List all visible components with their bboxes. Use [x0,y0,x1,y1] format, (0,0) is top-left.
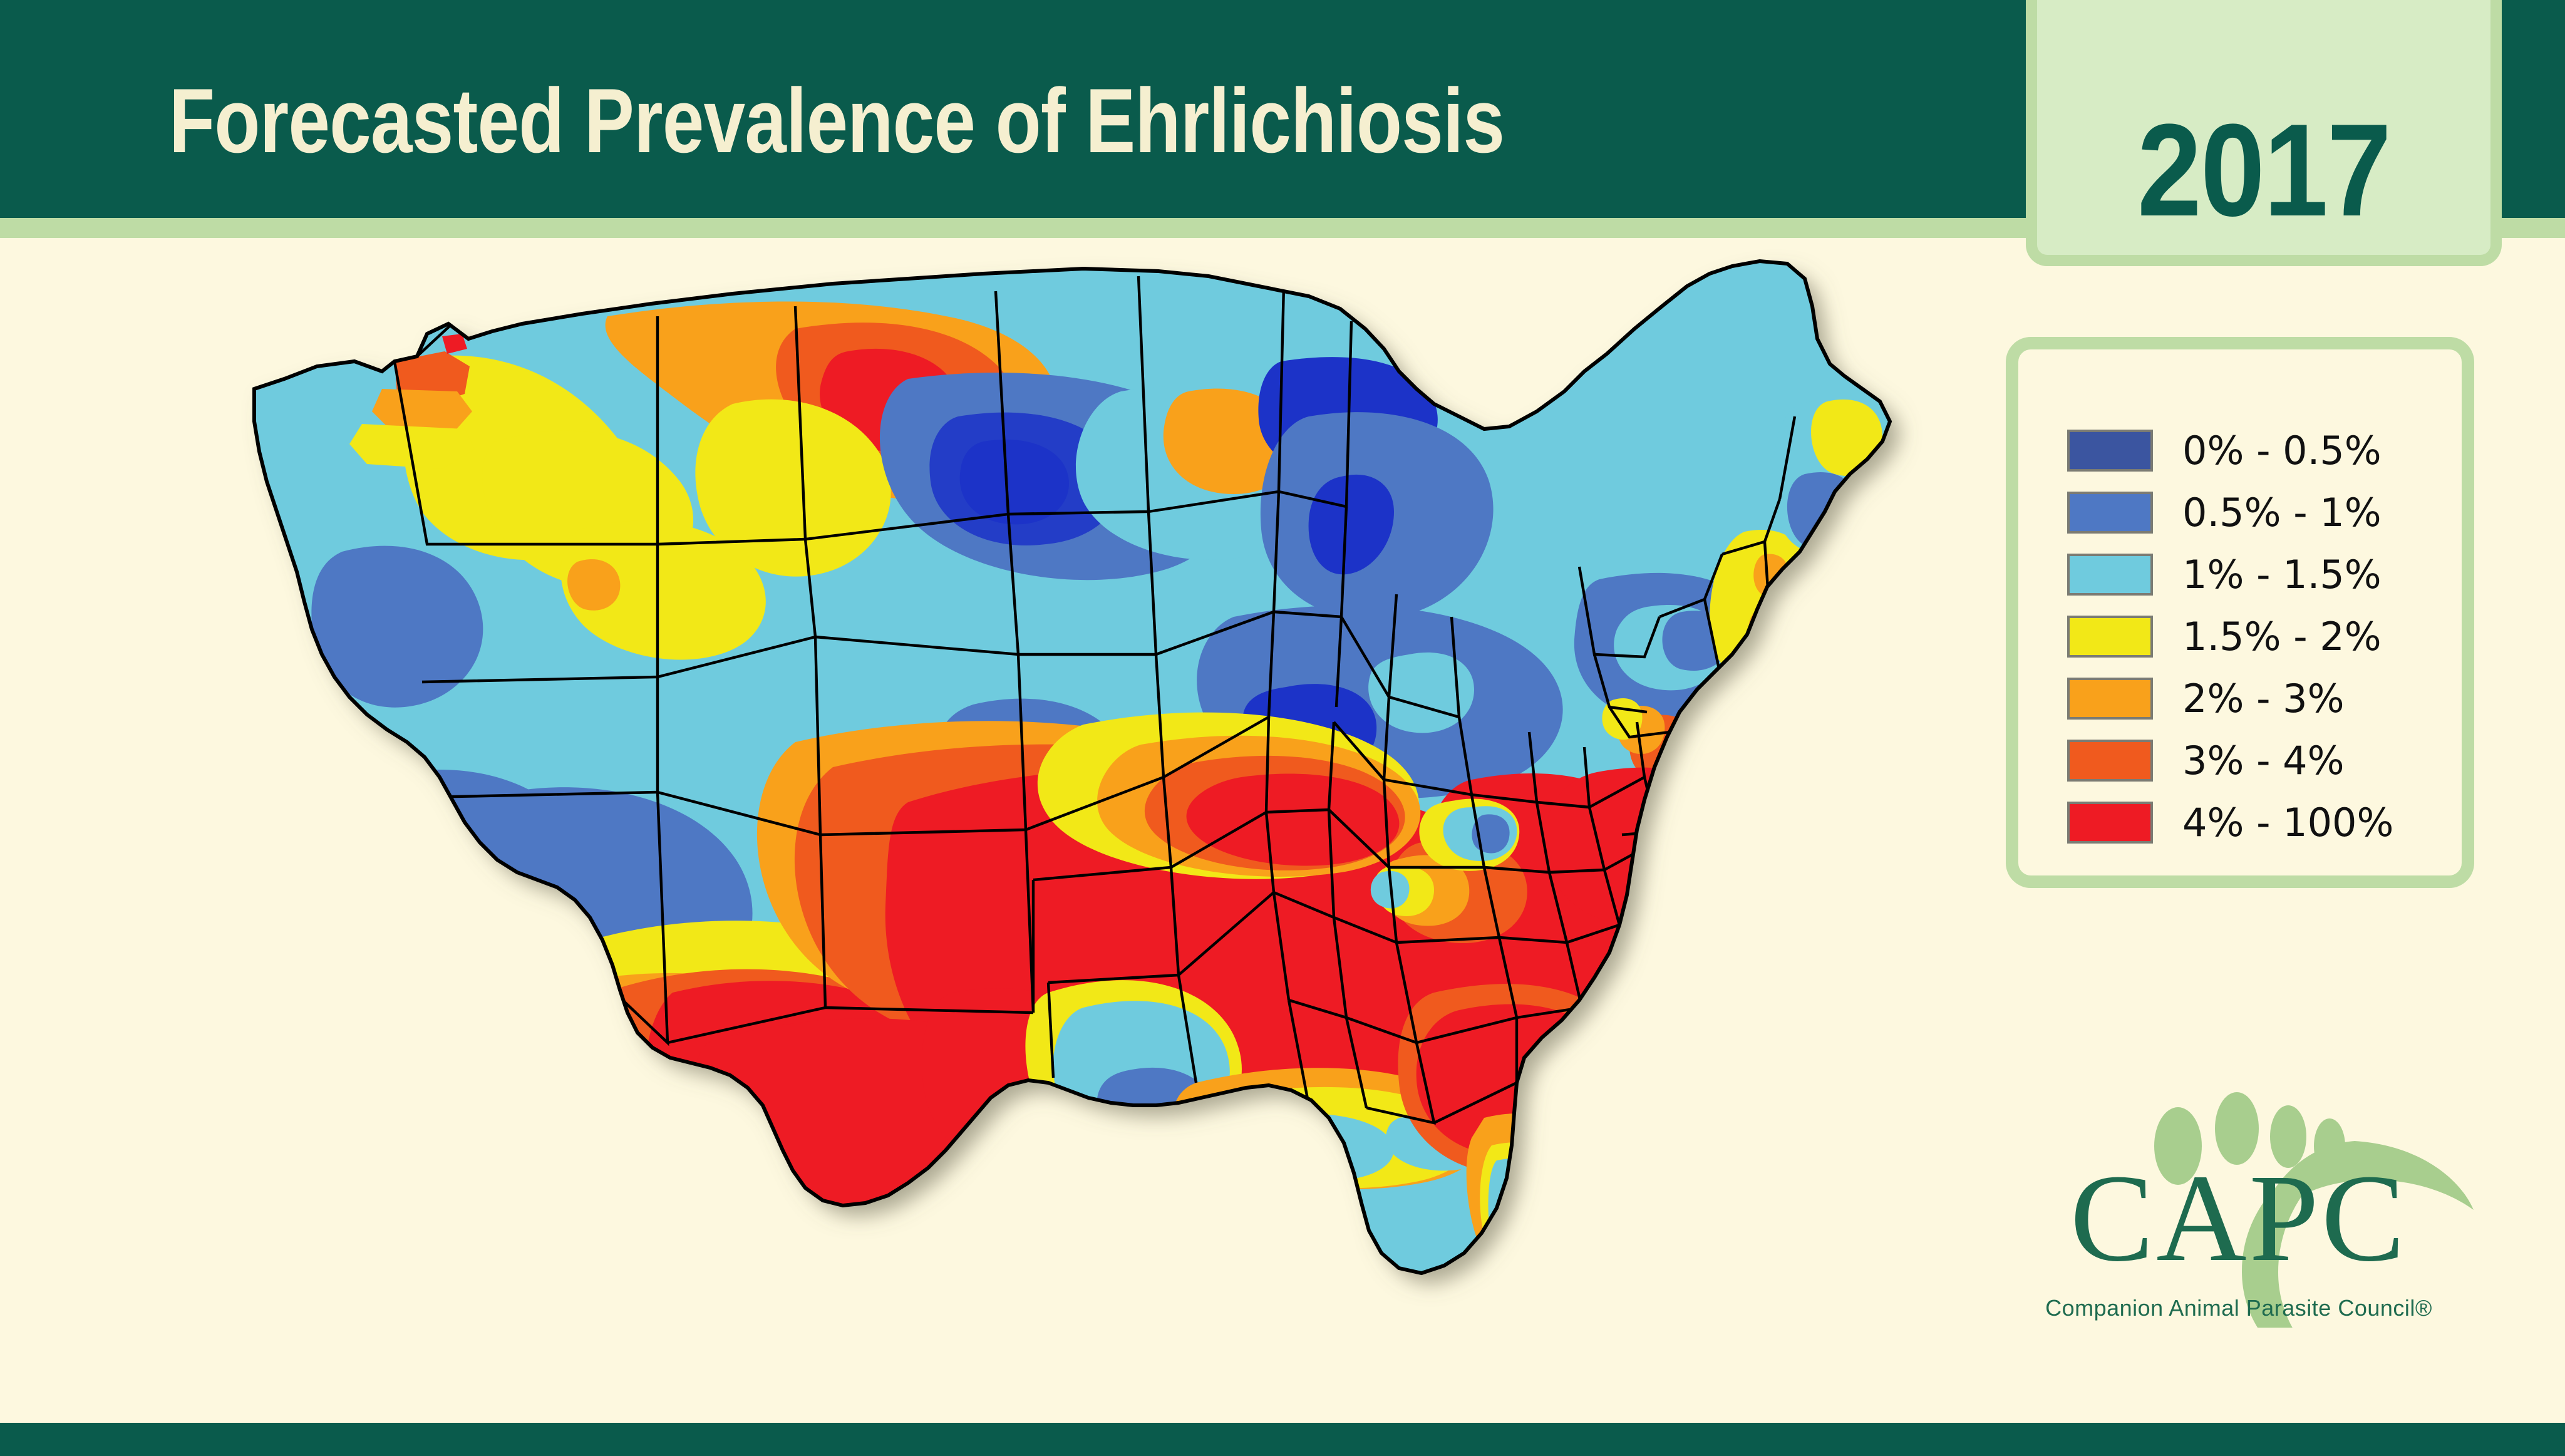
page-title: Forecasted Prevalence of Ehrlichiosis [169,75,1504,167]
legend-item: 4% - 100% [2067,792,2393,854]
capc-logo-svg: CAPC [1979,1065,2499,1328]
legend-swatch [2067,616,2153,658]
capc-logo: CAPC Companion Animal Parasite Council® [1979,1065,2499,1328]
legend-label: 4% - 100% [2182,800,2393,845]
legend-panel: 0% - 0.5% 0.5% - 1% 1% - 1.5% 1.5% - 2% … [2006,337,2474,888]
year-badge: 2017 [2026,0,2502,266]
legend-label: 0% - 0.5% [2182,428,2382,473]
legend-item: 3% - 4% [2067,730,2393,792]
capc-tagline: Companion Animal Parasite Council® [1979,1295,2499,1321]
legend-item: 1.5% - 2% [2067,606,2393,668]
poster-root: Forecasted Prevalence of Ehrlichiosis 20… [0,0,2565,1456]
prevalence-map [207,241,1998,1375]
legend-list: 0% - 0.5% 0.5% - 1% 1% - 1.5% 1.5% - 2% … [2067,420,2393,854]
legend-swatch [2067,802,2153,844]
legend-label: 2% - 3% [2182,676,2345,721]
legend-swatch [2067,740,2153,782]
legend-swatch [2067,554,2153,596]
legend-label: 1.5% - 2% [2182,614,2382,659]
capc-wordmark: CAPC [2070,1149,2407,1288]
legend-swatch [2067,430,2153,472]
legend-swatch [2067,492,2153,534]
legend-label: 0.5% - 1% [2182,490,2382,535]
us-choropleth-svg [207,241,1998,1375]
legend-item: 0.5% - 1% [2067,482,2393,544]
legend-item: 0% - 0.5% [2067,420,2393,482]
legend-swatch [2067,678,2153,720]
legend-label: 3% - 4% [2182,738,2345,783]
map-fill-layer [207,241,1998,1375]
legend-item: 1% - 1.5% [2067,544,2393,606]
legend-item: 2% - 3% [2067,668,2393,730]
year-label: 2017 [2064,105,2463,236]
footer-bar [0,1423,2565,1456]
legend-label: 1% - 1.5% [2182,552,2382,597]
